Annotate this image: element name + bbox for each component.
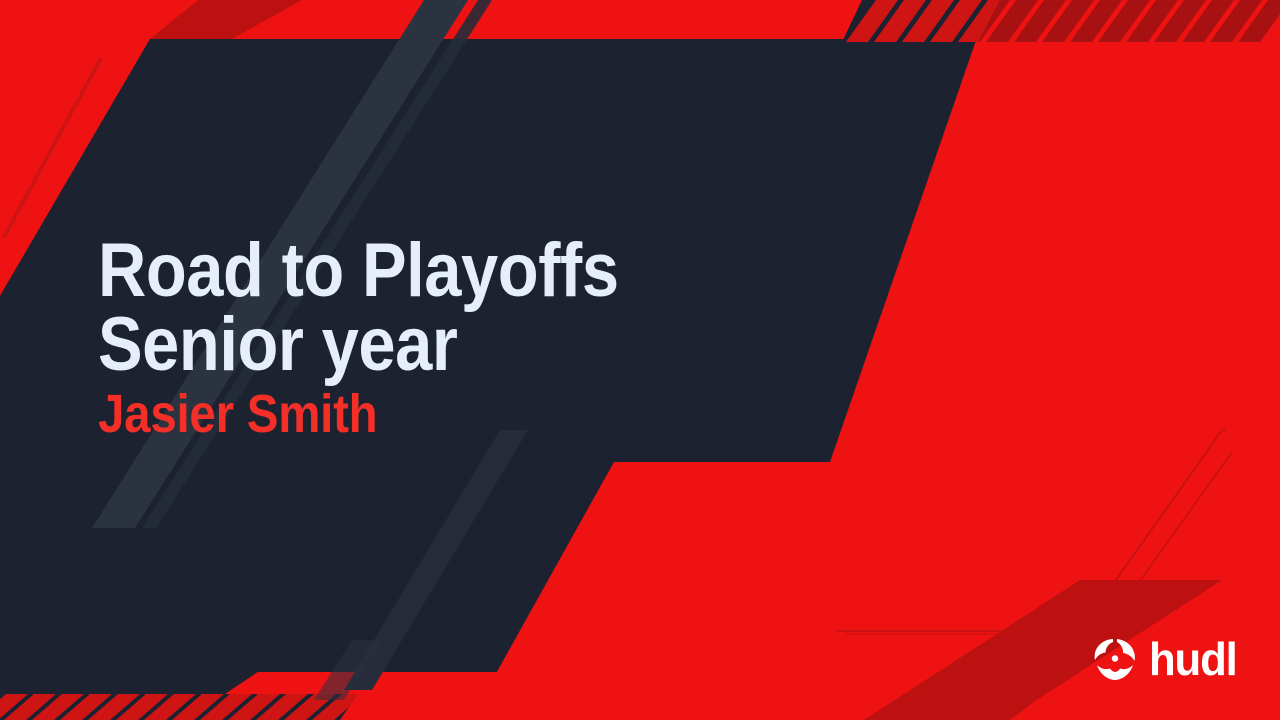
hatch-top-right-red-zone <box>958 0 1280 42</box>
title-block: Road to Playoffs Senior year Jasier Smit… <box>98 234 928 441</box>
hudl-wordmark: hudl <box>1149 636 1237 682</box>
presenter-name: Jasier Smith <box>98 387 828 441</box>
hudl-logo: hudl <box>1090 634 1241 684</box>
presentation-slide: Road to Playoffs Senior year Jasier Smit… <box>0 0 1280 720</box>
page-title: Road to Playoffs Senior year <box>98 234 828 383</box>
hudl-pinwheel-icon <box>1090 634 1140 684</box>
